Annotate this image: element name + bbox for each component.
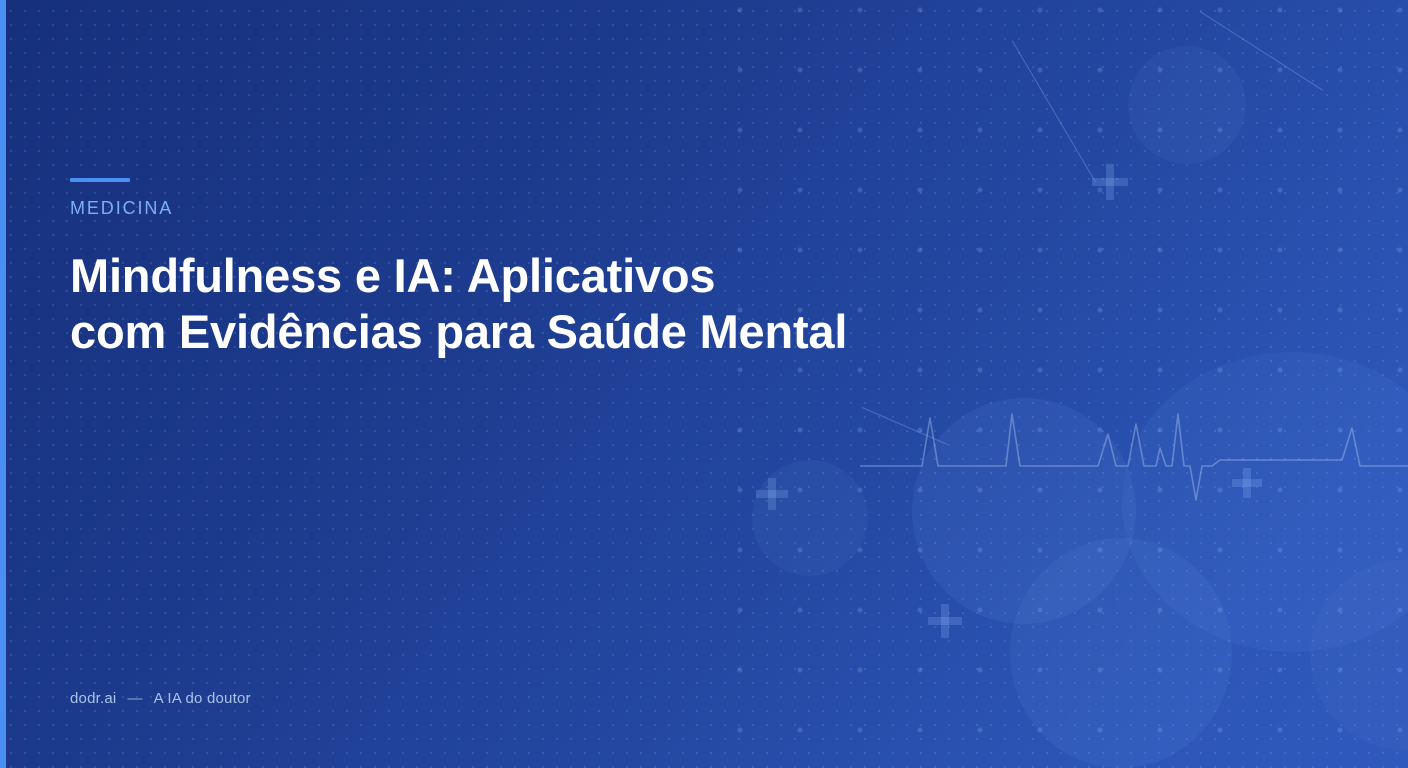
page-title-line-1: Mindfulness e IA: Aplicativos	[70, 248, 860, 304]
soft-circle-icon	[1128, 46, 1246, 164]
left-accent-bar	[0, 0, 6, 768]
page-title-line-2: com Evidências para Saúde Mental	[70, 304, 860, 360]
footer-tagline: A IA do doutor	[154, 690, 251, 707]
footer: dodr.ai — A IA do doutor	[70, 690, 251, 707]
diagonal-line-icon	[1200, 11, 1324, 91]
page-title: Mindfulness e IA: Aplicativos com Evidên…	[70, 248, 860, 360]
footer-brand: dodr.ai	[70, 690, 116, 707]
ecg-heartbeat-icon	[860, 404, 1408, 534]
category-label: MEDICINA	[70, 198, 173, 219]
footer-separator: —	[127, 690, 142, 707]
soft-circle-icon	[912, 398, 1136, 624]
medical-cross-icon	[1092, 164, 1128, 200]
kicker-accent-rule	[70, 178, 130, 182]
title-slide: MEDICINA Mindfulness e IA: Aplicativos c…	[0, 0, 1408, 768]
medical-cross-icon	[1232, 468, 1262, 498]
medical-cross-icon	[928, 604, 962, 638]
soft-circle-icon	[1310, 560, 1408, 750]
soft-circle-icon	[1122, 352, 1408, 652]
soft-circle-icon	[1010, 538, 1232, 768]
slide-content: MEDICINA Mindfulness e IA: Aplicativos c…	[70, 0, 890, 768]
diagonal-line-icon	[1011, 40, 1095, 182]
